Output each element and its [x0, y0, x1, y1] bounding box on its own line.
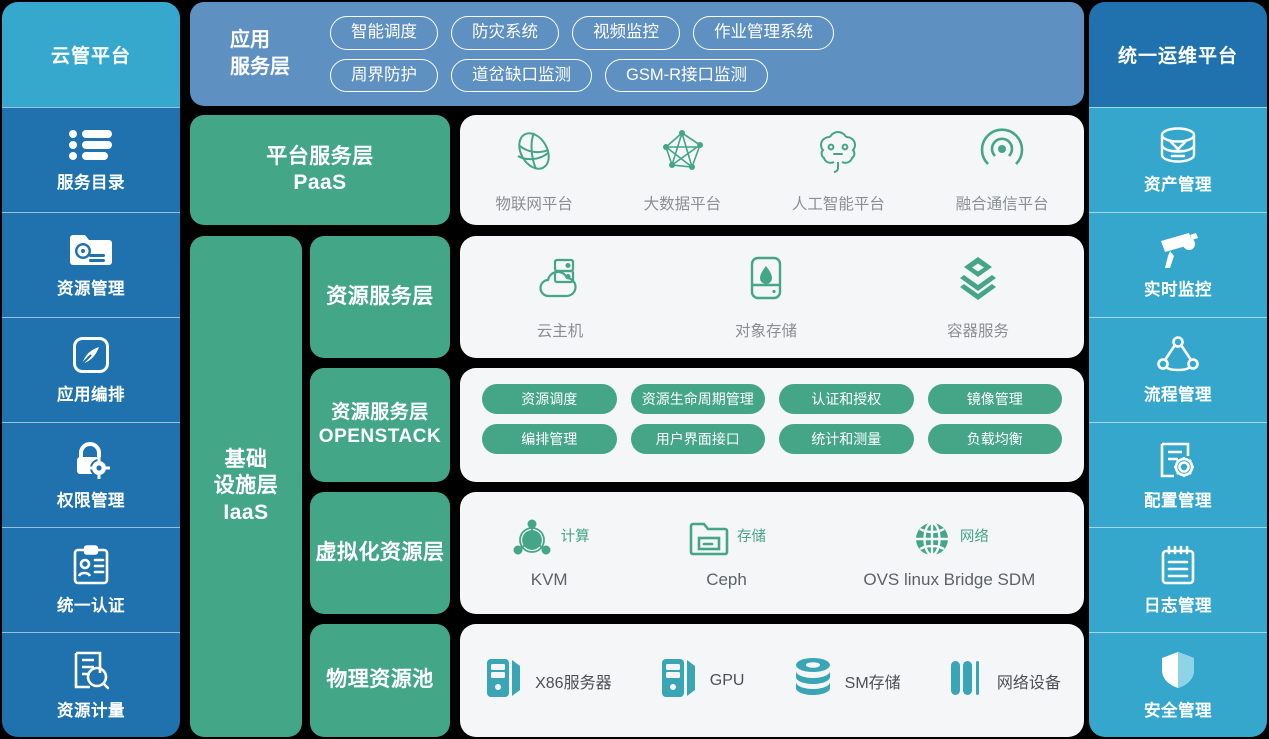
physical-item-network-device[interactable]: 网络设备 [947, 655, 1061, 706]
sidebar-item-unified-auth[interactable]: 统一认证 [2, 527, 180, 632]
clipboard-lines-icon [1159, 545, 1197, 585]
resource-service-panel: 云主机 对象存储 [460, 236, 1084, 358]
sidebar-item-realtime-monitoring[interactable]: 实时监控 [1089, 212, 1267, 317]
storage-folder-icon [687, 517, 731, 566]
paas-item-bigdata[interactable]: 大数据平台 [644, 127, 722, 214]
paas-item-communication[interactable]: 融合通信平台 [956, 127, 1049, 214]
center-stack: 应用 服务层 智能调度 防灾系统 视频监控 作业管理系统 周界防护 道岔缺口监测… [188, 2, 1086, 737]
application-service-layer: 应用 服务层 智能调度 防灾系统 视频监控 作业管理系统 周界防护 道岔缺口监测… [190, 2, 1084, 106]
physical-item-gpu[interactable]: GPU [658, 655, 745, 706]
graph-nodes-icon [658, 127, 706, 180]
paas-item-label: 融合通信平台 [956, 192, 1049, 214]
sidebar-item-label: 权限管理 [57, 487, 125, 511]
physical-item-x86[interactable]: X86服务器 [483, 655, 611, 706]
folder-gear-icon [69, 232, 113, 268]
iaas-layer-label: 基础 设施层 IaaS [190, 236, 302, 737]
paas-layer-label: 平台服务层 PaaS [190, 115, 450, 225]
sidebar-item-log-management[interactable]: 日志管理 [1089, 527, 1267, 632]
virtualization-item-caption: Ceph [706, 570, 747, 590]
disk-stack-icon [791, 655, 835, 706]
resource-item-object-storage[interactable]: 对象存储 [735, 254, 797, 341]
app-pill[interactable]: 防灾系统 [451, 16, 559, 50]
physical-pool-label: 物理资源池 [310, 624, 450, 737]
compute-node-icon [509, 517, 555, 566]
sidebar-item-asset-management[interactable]: 资产管理 [1089, 107, 1267, 212]
sidebar-left: 云管平台 服务目录 [2, 2, 180, 737]
sidebar-item-permission-management[interactable]: 权限管理 [2, 422, 180, 527]
database-coin-icon [1156, 126, 1200, 164]
cloud-server-icon [535, 254, 585, 307]
virtualization-layer-label: 虚拟化资源层 [310, 492, 450, 614]
architecture-diagram: 云管平台 服务目录 [0, 0, 1269, 739]
sidebar-left-title: 云管平台 [2, 2, 180, 107]
virtualization-item-tag: 存储 [737, 525, 766, 546]
openstack-pill[interactable]: 统计和测量 [779, 424, 914, 454]
openstack-pill[interactable]: 资源调度 [482, 384, 617, 414]
sidebar-item-label: 资源管理 [57, 275, 125, 299]
openstack-pill[interactable]: 用户界面接口 [631, 424, 766, 454]
sidebar-item-process-management[interactable]: 流程管理 [1089, 317, 1267, 422]
sidebar-item-label: 资产管理 [1144, 171, 1212, 195]
physical-item-sm-storage[interactable]: SM存储 [791, 655, 901, 706]
sidebar-item-label: 配置管理 [1144, 487, 1212, 511]
virtualization-item-tag: 网络 [960, 525, 989, 546]
sidebar-item-label: 服务目录 [57, 169, 125, 193]
sidebar-item-label: 日志管理 [1144, 592, 1212, 616]
physical-item-label: 网络设备 [997, 669, 1061, 693]
resource-item-label: 对象存储 [735, 319, 797, 341]
app-pill[interactable]: 智能调度 [330, 16, 438, 50]
app-pill[interactable]: 周界防护 [330, 59, 438, 93]
resource-item-label: 云主机 [537, 319, 584, 341]
paas-item-label: 人工智能平台 [792, 192, 885, 214]
physical-item-label: GPU [710, 672, 745, 690]
cctv-camera-icon [1156, 231, 1200, 269]
resource-item-container-service[interactable]: 容器服务 [947, 254, 1009, 341]
virtualization-item-storage[interactable]: 存储 Ceph [687, 517, 766, 590]
network-globe-icon [910, 517, 954, 566]
openstack-layer-label: 资源服务层 OPENSTACK [310, 368, 450, 482]
app-pill[interactable]: 道岔缺口监测 [451, 59, 592, 93]
resource-item-cloud-host[interactable]: 云主机 [535, 254, 585, 341]
gpu-tower-icon [658, 655, 700, 706]
sidebar-item-label: 流程管理 [1144, 381, 1212, 405]
paas-item-label: 物联网平台 [495, 192, 573, 214]
openstack-pill[interactable]: 镜像管理 [928, 384, 1063, 414]
sidebar-item-label: 实时监控 [1144, 276, 1212, 300]
network-device-icon [947, 655, 987, 706]
object-storage-icon [744, 254, 788, 307]
document-search-icon [73, 650, 109, 690]
openstack-pill[interactable]: 资源生命周期管理 [631, 384, 766, 414]
physical-panel: X86服务器 GPU [460, 624, 1084, 737]
id-card-icon [73, 545, 109, 585]
paas-item-label: 大数据平台 [644, 192, 722, 214]
paas-item-ai[interactable]: 人工智能平台 [792, 127, 885, 214]
sidebar-right: 统一运维平台 资产管理 实时监控 [1089, 2, 1267, 737]
globe-network-icon [510, 127, 558, 180]
resource-service-layer-label: 资源服务层 [310, 236, 450, 358]
flow-nodes-icon [1157, 336, 1199, 374]
sidebar-item-resource-management[interactable]: 资源管理 [2, 212, 180, 317]
paas-panel: 物联网平台 大数据平台 [460, 115, 1084, 225]
resource-item-label: 容器服务 [947, 319, 1009, 341]
lock-gear-icon [71, 440, 111, 480]
paas-item-iot[interactable]: 物联网平台 [495, 127, 573, 214]
app-pill[interactable]: 作业管理系统 [693, 16, 834, 50]
signal-broadcast-icon [978, 127, 1026, 180]
sidebar-right-title: 统一运维平台 [1089, 2, 1267, 107]
sidebar-item-label: 应用编排 [57, 381, 125, 405]
shield-icon [1160, 650, 1196, 690]
physical-item-label: X86服务器 [535, 669, 611, 693]
sidebar-item-label: 统一认证 [57, 592, 125, 616]
server-tower-icon [483, 655, 525, 706]
app-pill[interactable]: GSM-R接口监测 [605, 59, 768, 93]
virtualization-item-tag: 计算 [561, 525, 590, 546]
virtualization-item-compute[interactable]: 计算 KVM [509, 517, 590, 590]
container-layers-icon [954, 254, 1002, 307]
virtualization-item-caption: KVM [531, 570, 568, 590]
sidebar-item-resource-metering[interactable]: 资源计量 [2, 632, 180, 737]
virtualization-item-caption: OVS linux Bridge SDM [863, 570, 1035, 590]
physical-item-label: SM存储 [845, 669, 901, 693]
app-pill[interactable]: 视频监控 [572, 16, 680, 50]
document-gear-icon [1158, 440, 1198, 480]
sidebar-item-security-management[interactable]: 安全管理 [1089, 632, 1267, 737]
openstack-pill[interactable]: 负载均衡 [928, 424, 1063, 454]
virtualization-panel: 计算 KVM 存储 Ceph [460, 492, 1084, 614]
app-layer-title: 应用 服务层 [190, 27, 330, 81]
app-pill-row-2: 周界防护 道岔缺口监测 GSM-R接口监测 [330, 59, 1066, 93]
app-pill-row-1: 智能调度 防灾系统 视频监控 作业管理系统 [330, 16, 1066, 50]
sidebar-item-config-management[interactable]: 配置管理 [1089, 422, 1267, 527]
openstack-pill[interactable]: 编排管理 [482, 424, 617, 454]
brain-icon [813, 127, 863, 180]
openstack-pill[interactable]: 认证和授权 [779, 384, 914, 414]
sidebar-item-label: 资源计量 [57, 697, 125, 721]
sidebar-item-app-orchestration[interactable]: 应用编排 [2, 317, 180, 422]
sidebar-item-service-catalog[interactable]: 服务目录 [2, 107, 180, 212]
sidebar-item-label: 安全管理 [1144, 697, 1212, 721]
virtualization-item-network[interactable]: 网络 OVS linux Bridge SDM [863, 517, 1035, 590]
list-icon [68, 128, 114, 162]
openstack-panel: 资源调度 资源生命周期管理 认证和授权 镜像管理 编排管理 用户界面接口 统计和… [460, 368, 1084, 482]
pen-square-icon [72, 336, 110, 374]
